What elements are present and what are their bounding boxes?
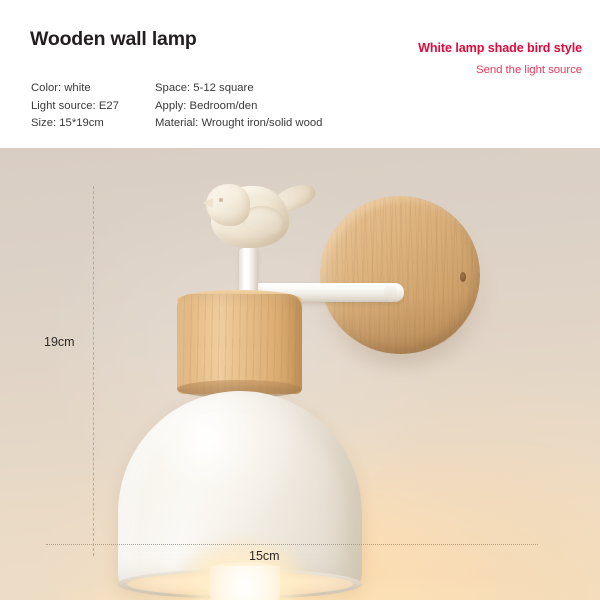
product-detail-page: Wooden wall lamp White lamp shade bird s… [0, 0, 600, 600]
width-dimension-label: 15cm [249, 549, 280, 563]
spec-column-left: Color: white Light source: E27 Size: 15*… [31, 80, 119, 133]
light-bulb [210, 566, 280, 600]
wall-lamp-illustration [0, 148, 600, 600]
height-dimension-label: 19cm [44, 335, 75, 349]
bird-eye [219, 198, 223, 202]
spec-color: Color: white [31, 80, 119, 98]
promo-subtext: Send the light source [476, 64, 582, 76]
spec-space: Space: 5-12 square [155, 80, 322, 98]
wood-collar [177, 294, 302, 394]
arm-end-cap [384, 283, 397, 302]
width-guide-line [46, 544, 538, 545]
product-photo: 19cm 15cm [0, 148, 600, 600]
spec-material: Material: Wrought iron/solid wood [155, 115, 322, 133]
page-title: Wooden wall lamp [30, 28, 197, 51]
spec-size: Size: 15*19cm [31, 115, 119, 133]
backplate-rim [322, 202, 480, 354]
spec-light-source: Light source: E27 [31, 98, 119, 116]
bird-beak [202, 198, 213, 208]
spec-column-right: Space: 5-12 square Apply: Bedroom/den Ma… [155, 80, 322, 133]
height-guide-line [93, 186, 94, 556]
backplate-screw-hole [460, 272, 466, 282]
promo-headline: White lamp shade bird style [418, 41, 582, 55]
header-info-panel: Wooden wall lamp White lamp shade bird s… [0, 0, 600, 148]
spec-apply: Apply: Bedroom/den [155, 98, 322, 116]
